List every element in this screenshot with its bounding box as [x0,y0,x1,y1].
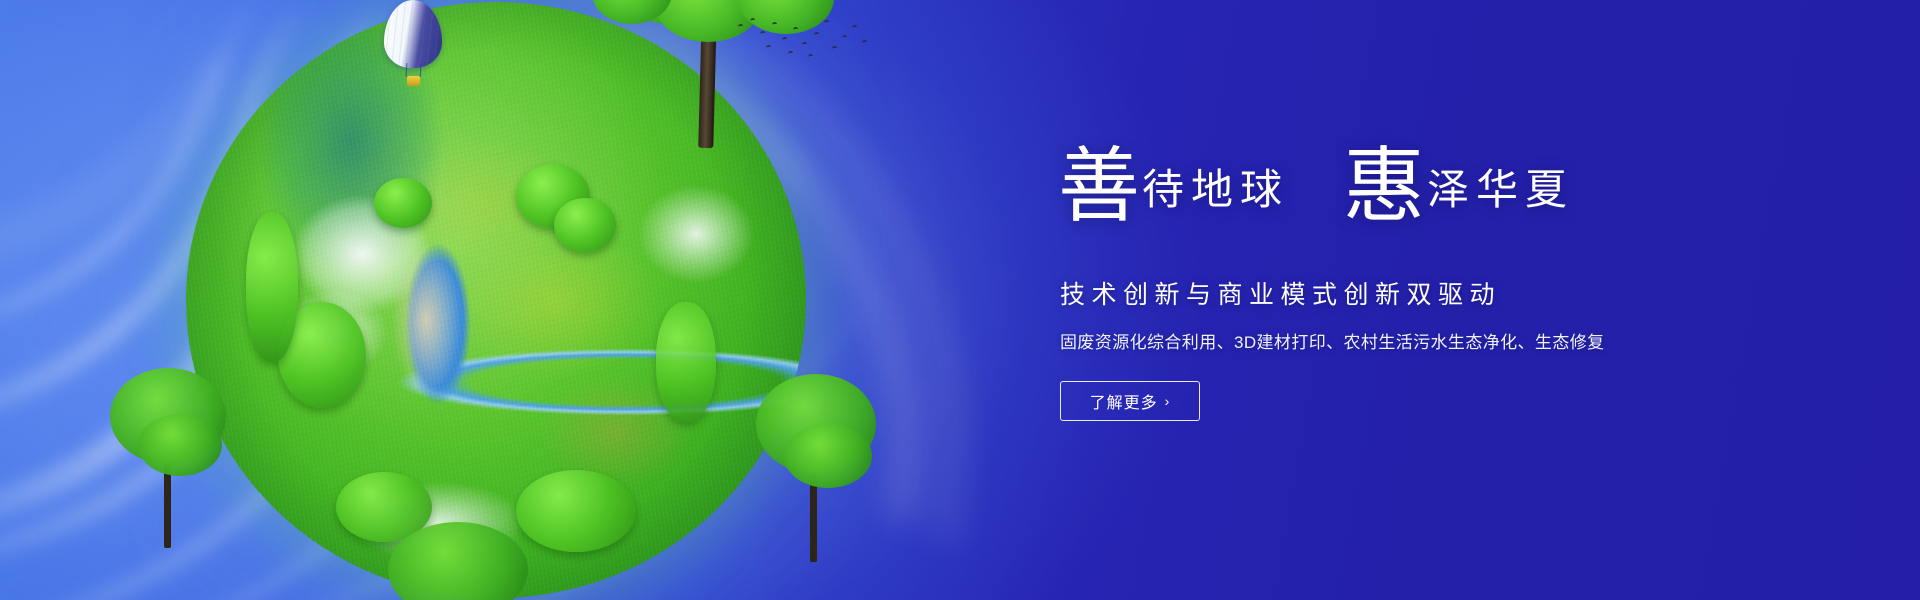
side-tree [106,362,234,552]
shrub [374,178,432,228]
hot-air-balloon-icon [384,0,446,92]
bird-flock-icon [736,18,876,62]
banner-description: 固废资源化综合利用、3D建材打印、农村生活污水生态净化、生态修复 [1060,332,1605,354]
shrub [246,212,298,362]
chevron-right-icon: › [1165,394,1171,408]
headline-char-large-1: 善 [1058,141,1140,232]
shrub [554,198,616,252]
side-tree [388,522,538,600]
balloon-ribs [384,0,442,68]
tree-canopy [138,414,222,476]
page-title: 善待地球 惠泽华夏 [1058,140,1818,236]
tree-canopy [388,522,528,600]
learn-more-button[interactable]: 了解更多 › [1060,381,1200,421]
headline-chars-small-2: 泽华夏 [1427,168,1574,214]
headline-char-large-2: 惠 [1343,141,1425,232]
hero-banner: 善待地球 惠泽华夏 技术创新与商业模式创新双驱动 固废资源化综合利用、3D建材打… [0,0,1920,600]
balloon-basket [407,76,420,86]
learn-more-label: 了解更多 [1090,389,1158,413]
headline-group-1: 善待地球 [1058,140,1287,222]
shrub [656,302,716,422]
banner-content: 善待地球 惠泽华夏 技术创新与商业模式创新双驱动 固废资源化综合利用、3D建材打… [1058,0,1818,600]
balloon-cords [406,63,422,77]
tree-canopy [784,424,872,488]
globe-illustration [148,0,848,600]
balloon-envelope [384,0,442,68]
headline-chars-small-1: 待地球 [1142,168,1289,214]
side-tree [748,370,882,566]
banner-subtitle: 技术创新与商业模式创新双驱动 [1060,280,1501,310]
headline-group-2: 惠泽华夏 [1343,140,1572,222]
